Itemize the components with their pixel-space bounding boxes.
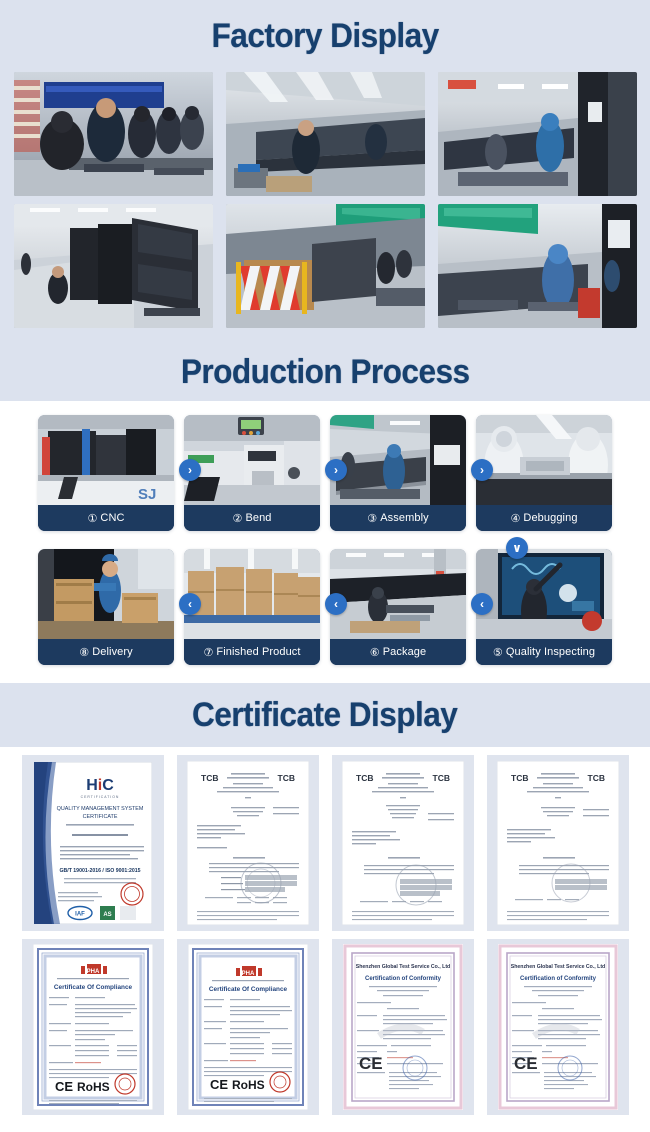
- page-title-factory-display: Factory Display: [211, 17, 438, 56]
- step-text: Assembly: [380, 512, 428, 524]
- svg-text:PHA: PHA: [241, 971, 254, 977]
- production-step-image-assembly: [330, 415, 466, 505]
- svg-text:TCB: TCB: [201, 773, 218, 783]
- step-number: ③: [367, 512, 377, 525]
- svg-text:Certification of Conformity: Certification of Conformity: [365, 976, 442, 982]
- production-step-label-assembly: ③ Assembly: [330, 505, 466, 531]
- svg-text:AS: AS: [103, 912, 111, 918]
- svg-text:CE: CE: [514, 1054, 538, 1073]
- production-step-label-debugging: ④ Debugging: [476, 505, 612, 531]
- svg-text:Certificate Of Compliance: Certificate Of Compliance: [53, 984, 132, 991]
- arrow-left-icon-2[interactable]: ‹: [325, 593, 347, 615]
- production-step-image-quality-inspecting: [476, 549, 612, 639]
- production-step-label-cnc: ① CNC: [38, 505, 174, 531]
- production-step-assembly[interactable]: ③ Assembly: [330, 415, 466, 531]
- svg-text:QUALITY MANAGEMENT SYSTEM: QUALITY MANAGEMENT SYSTEM: [56, 806, 143, 812]
- svg-text:CERTIFICATE: CERTIFICATE: [82, 814, 117, 820]
- svg-text:HiC: HiC: [86, 777, 114, 794]
- svg-text:TCB: TCB: [356, 773, 373, 783]
- step-text: CNC: [100, 512, 124, 524]
- production-step-label-delivery: ⑧ Delivery: [38, 639, 174, 665]
- production-step-package[interactable]: ⑥ Package: [330, 549, 466, 665]
- svg-text:CERTIFICATION: CERTIFICATION: [80, 795, 119, 799]
- svg-text:Certification of Conformity: Certification of Conformity: [520, 976, 597, 982]
- production-step-label-bend: ② Bend: [184, 505, 320, 531]
- arrow-left-icon-1[interactable]: ‹: [179, 593, 201, 615]
- certificate-iso-9001-quality-management-certificate[interactable]: HiC CERTIFICATION QUALITY MANAGEMENT SYS…: [22, 755, 164, 931]
- production-step-image-cnc: SJ: [38, 415, 174, 505]
- step-number: ⑦: [203, 646, 213, 659]
- factory-display-section: Factory Display: [0, 0, 650, 343]
- svg-text:SJ: SJ: [138, 486, 156, 503]
- factory-photo-warehouse-panels-2: [226, 204, 425, 328]
- factory-photo-cleanroom-worker: [438, 204, 637, 328]
- svg-text:RoHS: RoHS: [77, 1080, 110, 1094]
- production-step-image-package: [330, 549, 466, 639]
- certificate-grid: HiC CERTIFICATION QUALITY MANAGEMENT SYS…: [0, 747, 650, 1115]
- certificate-tcb-grant-certificate-2[interactable]: TCB TCB: [332, 755, 474, 931]
- step-number: ⑤: [493, 646, 503, 659]
- production-step-label-quality-inspecting: ⑤ Quality Inspecting: [476, 639, 612, 665]
- certificate-tcb-grant-certificate-1[interactable]: TCB TCB: [177, 755, 319, 931]
- page-title-certificate-display: Certificate Display: [192, 696, 457, 735]
- factory-photo-assembly-line-workers-2: [226, 72, 425, 196]
- svg-text:CE: CE: [55, 1079, 73, 1094]
- factory-photo-assembly-line-workers-1: [14, 72, 213, 196]
- production-step-image-delivery: [38, 549, 174, 639]
- factory-photo-assembly-line-workers-3: [438, 72, 637, 196]
- certificate-ce-certification-of-conformity-2[interactable]: Shenzhen Global Test Service Co., Ltd Ce…: [487, 939, 629, 1115]
- production-step-finished-product[interactable]: ⑦ Finished Product: [184, 549, 320, 665]
- step-text: Finished Product: [216, 646, 300, 658]
- certificate-display-banner: Certificate Display: [0, 683, 650, 747]
- arrow-left-icon-3[interactable]: ‹: [471, 593, 493, 615]
- production-row-bottom: ⑧ Delivery: [0, 549, 650, 665]
- step-number: ⑧: [79, 646, 89, 659]
- svg-text:CE: CE: [210, 1077, 228, 1092]
- svg-text:IAF: IAF: [75, 912, 85, 918]
- svg-text:PHA: PHA: [86, 969, 99, 975]
- production-step-image-finished-product: [184, 549, 320, 639]
- svg-text:CE: CE: [359, 1054, 383, 1073]
- certificate-ce-certification-of-conformity-1[interactable]: Shenzhen Global Test Service Co., Ltd Ce…: [332, 939, 474, 1115]
- svg-text:TCB: TCB: [511, 773, 528, 783]
- step-number: ②: [232, 512, 242, 525]
- certificate-ce-rohs-certificate-of-compliance-2[interactable]: PHA Certificate Of Compliance: [177, 939, 319, 1115]
- step-text: Bend: [245, 512, 271, 524]
- production-step-debugging[interactable]: ④ Debugging: [476, 415, 612, 531]
- svg-text:TCB: TCB: [277, 773, 294, 783]
- production-steps-wrapper: SJ ① CNC: [0, 401, 650, 665]
- step-number: ④: [510, 512, 520, 525]
- production-process-banner: Production Process: [0, 343, 650, 401]
- certificate-display-section: Certificate Display HiC CERTIFICATION QU…: [0, 683, 650, 1132]
- step-number: ①: [87, 512, 97, 525]
- step-text: Package: [383, 646, 427, 658]
- svg-text:Shenzhen Global Test Service C: Shenzhen Global Test Service Co., Ltd: [510, 964, 604, 970]
- svg-text:Certificate Of Compliance: Certificate Of Compliance: [208, 986, 287, 993]
- production-step-label-finished-product: ⑦ Finished Product: [184, 639, 320, 665]
- certificate-tcb-grant-certificate-3[interactable]: TCB TCB: [487, 755, 629, 931]
- arrow-right-icon-3[interactable]: ›: [471, 459, 493, 481]
- arrow-right-icon-2[interactable]: ›: [325, 459, 347, 481]
- production-step-cnc[interactable]: SJ ① CNC: [38, 415, 174, 531]
- production-step-bend[interactable]: ② Bend: [184, 415, 320, 531]
- production-step-label-package: ⑥ Package: [330, 639, 466, 665]
- factory-display-banner: Factory Display: [0, 0, 650, 72]
- certificate-ce-rohs-certificate-of-compliance-1[interactable]: PHA Certificate Of Compliance: [22, 939, 164, 1115]
- production-step-image-bend: [184, 415, 320, 505]
- factory-photo-grid: [0, 72, 650, 328]
- production-row-top: SJ ① CNC: [0, 415, 650, 531]
- production-step-delivery[interactable]: ⑧ Delivery: [38, 549, 174, 665]
- svg-text:RoHS: RoHS: [232, 1078, 265, 1092]
- production-step-quality-inspecting[interactable]: ⑤ Quality Inspecting: [476, 549, 612, 665]
- factory-photo-warehouse-panels-1: [14, 204, 213, 328]
- svg-text:TCB: TCB: [587, 773, 604, 783]
- svg-text:TCB: TCB: [432, 773, 449, 783]
- svg-text:GB/T 19001-2016 / ISO 9001:201: GB/T 19001-2016 / ISO 9001:2015: [59, 868, 140, 874]
- production-step-image-debugging: [476, 415, 612, 505]
- arrow-right-icon-1[interactable]: ›: [179, 459, 201, 481]
- step-number: ⑥: [370, 646, 380, 659]
- production-process-section: Production Process: [0, 343, 650, 683]
- step-text: Debugging: [523, 512, 577, 524]
- arrow-down-icon[interactable]: ∨: [506, 537, 528, 559]
- step-text: Quality Inspecting: [506, 646, 595, 658]
- svg-text:Shenzhen Global Test Service C: Shenzhen Global Test Service Co., Ltd: [355, 964, 449, 970]
- step-text: Delivery: [92, 646, 133, 658]
- page-title-production-process: Production Process: [181, 353, 470, 392]
